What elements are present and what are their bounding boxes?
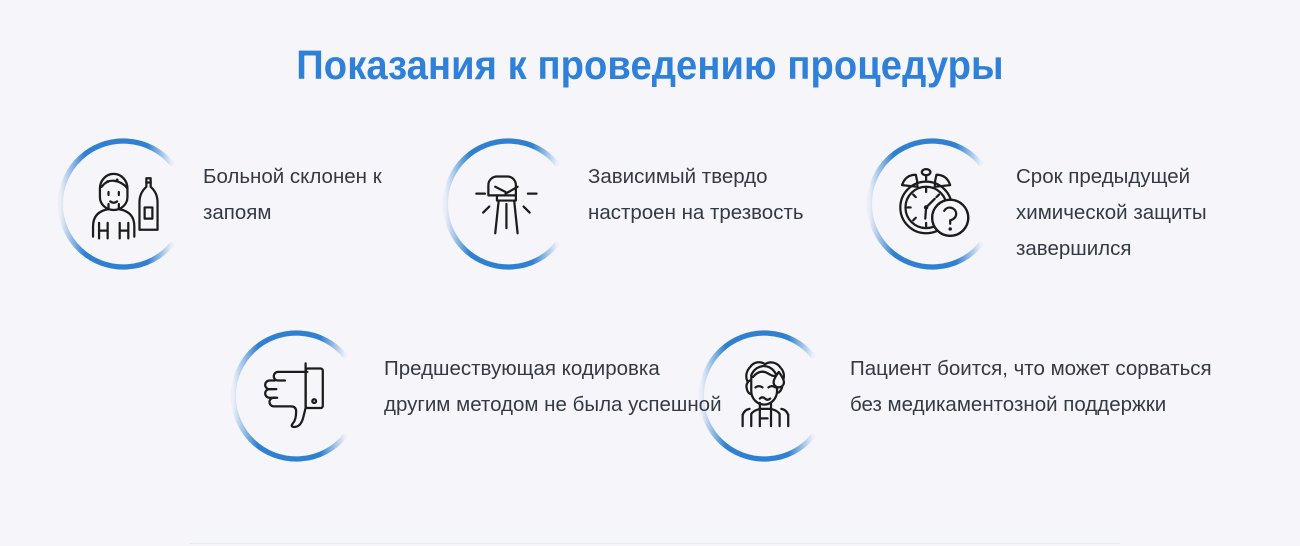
indication-item-5: Пациент боится, что может сорваться без … [694,325,1220,467]
alarm-clock-question-icon [890,161,976,247]
indication-item-4: Предшествующая кодировка другим методом … [226,325,729,467]
indication-item-3: Срок предыдущей химической защиты заверш… [862,133,1276,275]
indication-item-2: Зависимый твердо настроен на трезвость [438,133,823,275]
indication-text-1: Больной склонен к запоям [203,133,453,231]
infographic-page: Показания к проведению процедуры [0,0,1300,546]
icon-badge-4 [226,325,368,467]
icon-badge-3 [862,133,1004,275]
confident-person-icon [466,161,552,247]
indication-text-3: Срок предыдущей химической защиты заверш… [1016,133,1276,267]
indication-text-5: Пациент боится, что может сорваться без … [850,325,1220,423]
indication-text-2: Зависимый твердо настроен на трезвость [588,133,823,231]
bottom-divider [190,543,1120,544]
icon-badge-2 [438,133,580,275]
man-with-bottle-icon [81,161,167,247]
thumbs-down-icon [254,353,340,439]
icon-badge-1 [53,133,195,275]
worried-patient-icon [722,353,808,439]
indication-text-4: Предшествующая кодировка другим методом … [384,325,729,423]
icon-badge-5 [694,325,836,467]
indication-item-1: Больной склонен к запоям [53,133,453,275]
page-title: Показания к проведению процедуры [46,42,1255,89]
